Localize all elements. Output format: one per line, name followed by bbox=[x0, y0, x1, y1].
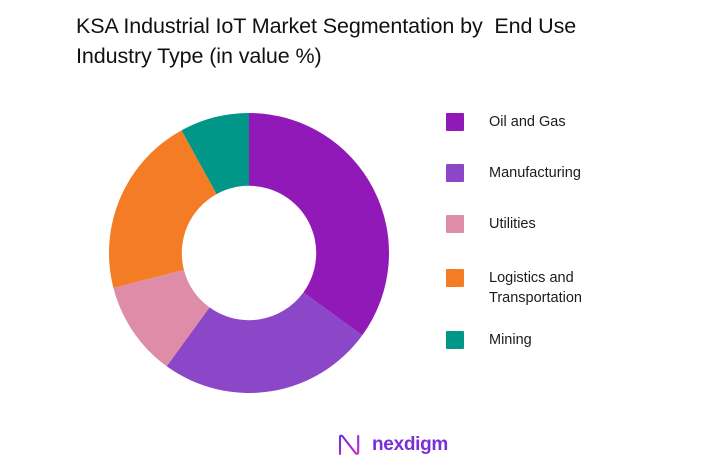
donut-chart bbox=[109, 113, 389, 393]
nexdigm-n-logo-icon bbox=[337, 434, 363, 456]
donut-slice-group bbox=[109, 113, 389, 393]
legend-swatch-icon-utilities bbox=[446, 215, 464, 233]
donut-chart-svg bbox=[109, 113, 389, 393]
legend-item-mining[interactable]: Mining bbox=[446, 330, 686, 352]
legend-item-oil-and-gas[interactable]: Oil and Gas bbox=[446, 112, 686, 134]
legend-item-logistics-and-transportation[interactable]: Logistics and Transportation bbox=[446, 268, 686, 308]
legend-item-manufacturing[interactable]: Manufacturing bbox=[446, 163, 686, 185]
legend-swatch-icon-manufacturing bbox=[446, 164, 464, 182]
donut-slice[interactable] bbox=[249, 113, 389, 335]
legend-label-utilities: Utilities bbox=[489, 214, 536, 234]
brand-name: nexdigm bbox=[372, 434, 448, 456]
chart-card: KSA Industrial IoT Market Segmentation b… bbox=[0, 0, 724, 473]
legend-label-mining: Mining bbox=[489, 330, 532, 350]
legend-swatch-icon-logistics-and-transportation bbox=[446, 269, 464, 287]
legend-label-logistics-and-transportation: Logistics and Transportation bbox=[489, 268, 582, 308]
legend-label-oil-and-gas: Oil and Gas bbox=[489, 112, 566, 132]
legend-swatch-icon-mining bbox=[446, 331, 464, 349]
brand-logo: nexdigm bbox=[337, 434, 448, 456]
legend-item-utilities[interactable]: Utilities bbox=[446, 214, 686, 236]
chart-legend: Oil and Gas Manufacturing Utilities Logi… bbox=[446, 112, 686, 352]
legend-swatch-icon-oil-and-gas bbox=[446, 113, 464, 131]
chart-title: KSA Industrial IoT Market Segmentation b… bbox=[76, 11, 656, 71]
legend-label-manufacturing: Manufacturing bbox=[489, 163, 581, 183]
